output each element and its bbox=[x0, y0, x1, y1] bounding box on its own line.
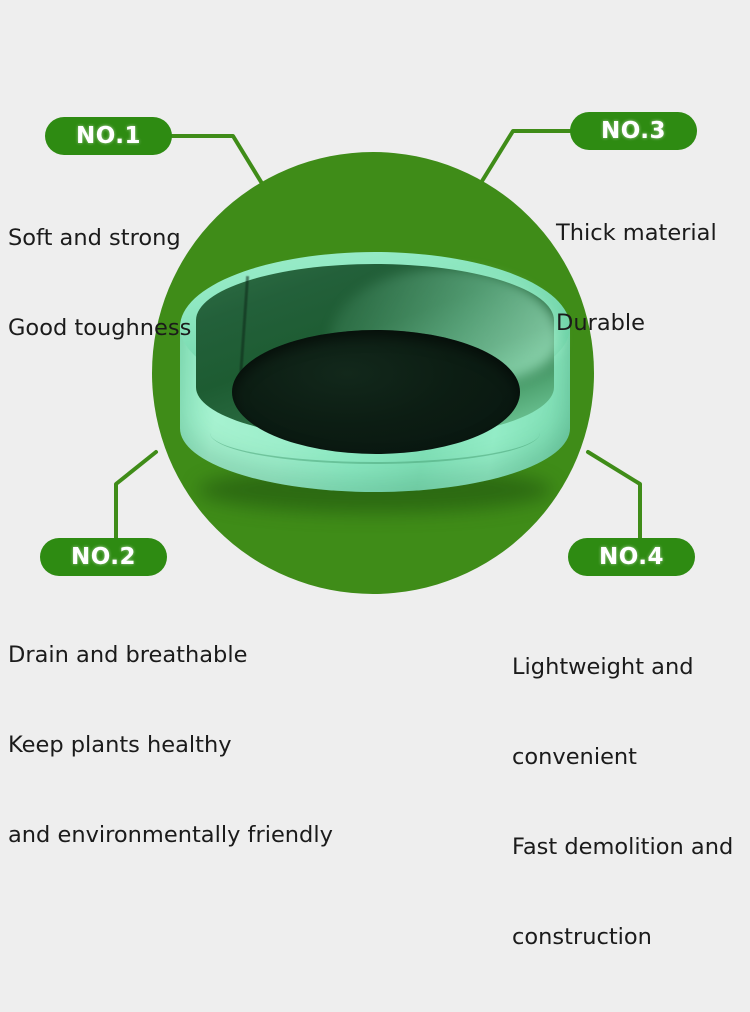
feature-no4-line-3: Fast demolition and bbox=[512, 832, 733, 862]
feature-no4-line-1: Lightweight and bbox=[512, 652, 733, 682]
product-bottom-stitch bbox=[210, 402, 540, 464]
badge-no2: NO.2 bbox=[40, 538, 167, 576]
connector-line-no4 bbox=[588, 452, 640, 538]
feature-no2-line-3: and environmentally friendly bbox=[8, 820, 333, 850]
feature-no1-line-2: Good toughness bbox=[8, 313, 191, 343]
feature-no3-line-1: Thick material bbox=[556, 218, 717, 248]
feature-text-no2: Drain and breathable Keep plants healthy… bbox=[8, 580, 333, 910]
badge-no3: NO.3 bbox=[570, 112, 697, 150]
feature-no1-line-1: Soft and strong bbox=[8, 223, 191, 253]
feature-no4-line-2: convenient bbox=[512, 742, 733, 772]
badge-no1: NO.1 bbox=[45, 117, 172, 155]
feature-no4-line-4: construction bbox=[512, 922, 733, 952]
connector-line-no2 bbox=[116, 452, 156, 538]
feature-text-no1: Soft and strong Good toughness bbox=[8, 163, 191, 403]
badge-no4: NO.4 bbox=[568, 538, 695, 576]
feature-no2-line-2: Keep plants healthy bbox=[8, 730, 333, 760]
product-feature-infographic: NO.1 Soft and strong Good toughness NO.3… bbox=[0, 0, 750, 750]
feature-no3-line-2: Durable bbox=[556, 308, 717, 338]
product-image-fabric-grow-bag bbox=[180, 252, 570, 514]
feature-text-no3: Thick material Durable bbox=[556, 158, 717, 398]
product-circle-backdrop bbox=[152, 152, 594, 594]
feature-text-no4: Lightweight and convenient Fast demoliti… bbox=[512, 592, 733, 1012]
feature-no2-line-1: Drain and breathable bbox=[8, 640, 333, 670]
